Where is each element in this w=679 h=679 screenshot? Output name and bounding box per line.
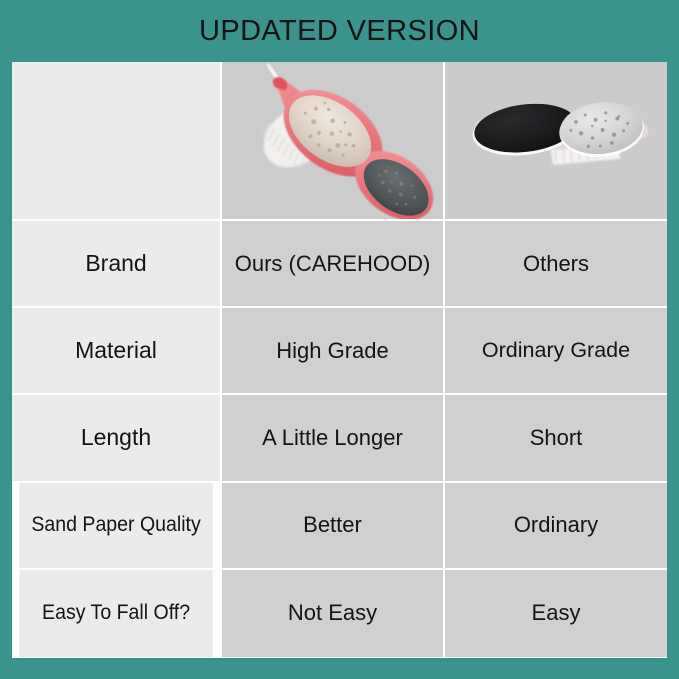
row-value-others-brand: Others bbox=[445, 221, 667, 306]
table-row: Material High Grade Ordinary Grade bbox=[12, 308, 667, 395]
row-value-others-sand-paper-quality: Ordinary bbox=[445, 483, 667, 568]
foot-file-others-icon bbox=[445, 62, 667, 219]
row-label-brand: Brand bbox=[12, 221, 222, 306]
row-label-length: Length bbox=[12, 395, 222, 480]
product-image-ours bbox=[222, 62, 445, 219]
row-label-material: Material bbox=[12, 308, 222, 393]
row-value-ours-brand: Ours (CAREHOOD) bbox=[222, 221, 445, 306]
row-value-others-easy-to-fall-off: Easy bbox=[445, 570, 667, 657]
comparison-table: Brand Ours (CAREHOOD) Others Material Hi… bbox=[12, 62, 667, 658]
row-value-ours-easy-to-fall-off: Not Easy bbox=[222, 570, 445, 657]
row-label-sand-paper-quality: Sand Paper Quality bbox=[19, 483, 214, 568]
row-value-ours-length: A Little Longer bbox=[222, 395, 445, 480]
foot-file-ours-icon bbox=[222, 62, 443, 219]
comparison-infographic: UPDATED VERSION bbox=[0, 0, 679, 679]
table-row-product-images bbox=[12, 62, 667, 221]
table-row: Sand Paper Quality Better Ordinary bbox=[12, 483, 667, 570]
row-value-ours-material: High Grade bbox=[222, 308, 445, 393]
product-image-others bbox=[445, 62, 667, 219]
table-row: Length A Little Longer Short bbox=[12, 395, 667, 482]
row-value-ours-sand-paper-quality: Better bbox=[222, 483, 445, 568]
row-label-easy-to-fall-off: Easy To Fall Off? bbox=[19, 570, 214, 657]
table-cell-blank-corner bbox=[12, 62, 222, 219]
row-value-others-material: Ordinary Grade bbox=[445, 308, 667, 393]
table-row: Brand Ours (CAREHOOD) Others bbox=[12, 221, 667, 308]
row-value-others-length: Short bbox=[445, 395, 667, 480]
table-row: Easy To Fall Off? Not Easy Easy bbox=[12, 570, 667, 657]
page-title: UPDATED VERSION bbox=[0, 14, 679, 48]
